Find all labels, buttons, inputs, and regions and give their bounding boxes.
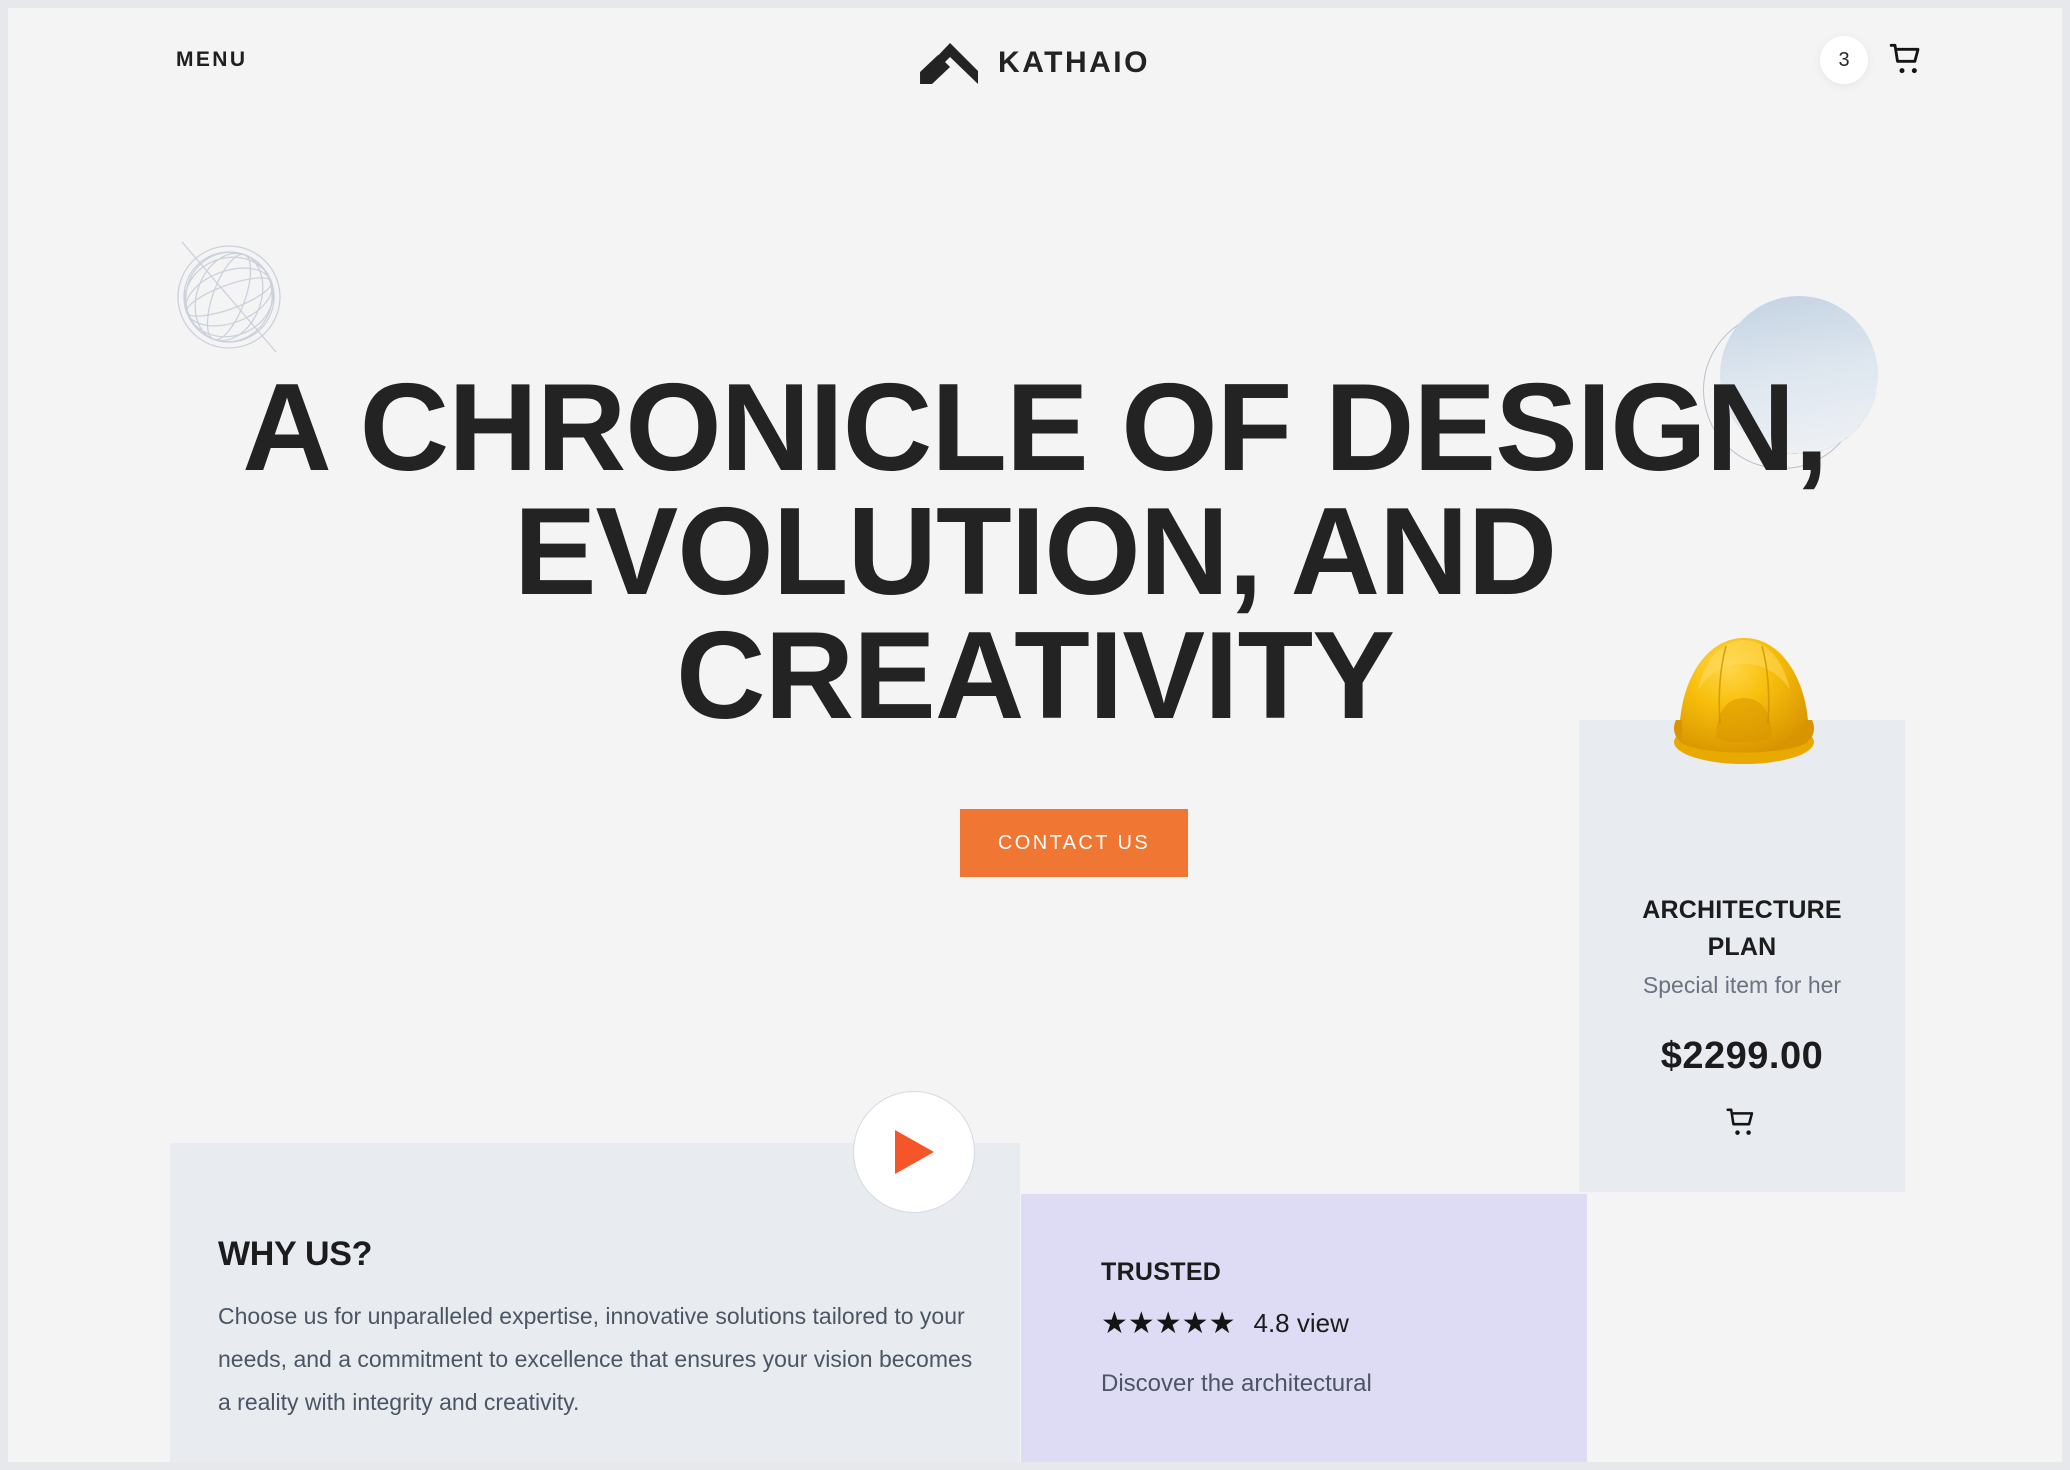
product-price: $2299.00 xyxy=(1599,1035,1885,1078)
trusted-rating: ★★★★★ 4.8 view xyxy=(1101,1308,1349,1339)
wireframe-globe-icon xyxy=(168,236,290,358)
headline-line-2-suffix: N, AND xyxy=(1140,483,1557,621)
product-title: ARCHITECTURE PLAN xyxy=(1609,892,1875,966)
trusted-panel: TRUSTED ★★★★★ 4.8 view Discover the arch… xyxy=(1021,1194,1587,1462)
star-rating-icons: ★★★★★ xyxy=(1101,1309,1235,1339)
headline-line-3: CREATIVITY xyxy=(8,614,2062,738)
play-triangle-icon xyxy=(891,1127,937,1177)
shopping-cart-icon[interactable] xyxy=(1886,40,1928,80)
contact-us-button[interactable]: CONTACT US xyxy=(960,809,1188,877)
why-us-body: Choose us for unparalleled expertise, in… xyxy=(218,1295,978,1424)
trusted-subtitle: Discover the architectural xyxy=(1101,1370,1372,1398)
brand-name: KATHAIO xyxy=(998,46,1150,80)
add-to-cart-icon[interactable] xyxy=(1723,1105,1761,1141)
trusted-title: TRUSTED xyxy=(1101,1258,1221,1287)
video-play-button[interactable] xyxy=(853,1091,975,1213)
headline-line-2: EVOLUTION, AND xyxy=(8,490,2062,614)
page-title: A CHRONICLE OF DESIGN, EVOLUTION, AND CR… xyxy=(8,366,2062,738)
headline-line-1: A CHRONICLE OF DESIGN, xyxy=(8,366,2062,490)
mountain-logo-icon xyxy=(920,41,982,85)
page-root: MENU KATHAIO 3 xyxy=(8,8,2062,1462)
why-us-title: WHY US? xyxy=(218,1235,372,1274)
header-actions: 3 xyxy=(1820,36,1928,84)
headline-sparkle-o: O xyxy=(1044,490,1139,614)
product-card[interactable]: ARCHITECTURE PLAN Special item for her $… xyxy=(1579,720,1905,1192)
brand-logo[interactable]: KATHAIO xyxy=(920,41,1150,85)
rating-score: 4.8 view xyxy=(1253,1308,1348,1339)
product-subtitle: Special item for her xyxy=(1599,972,1885,999)
headline-line-2-prefix: EVOLUTI xyxy=(514,483,1044,621)
cart-count-badge[interactable]: 3 xyxy=(1820,36,1868,84)
menu-button[interactable]: MENU xyxy=(176,48,247,72)
site-header: MENU KATHAIO 3 xyxy=(8,8,2062,113)
sparkle-star-icon xyxy=(1077,529,1107,575)
